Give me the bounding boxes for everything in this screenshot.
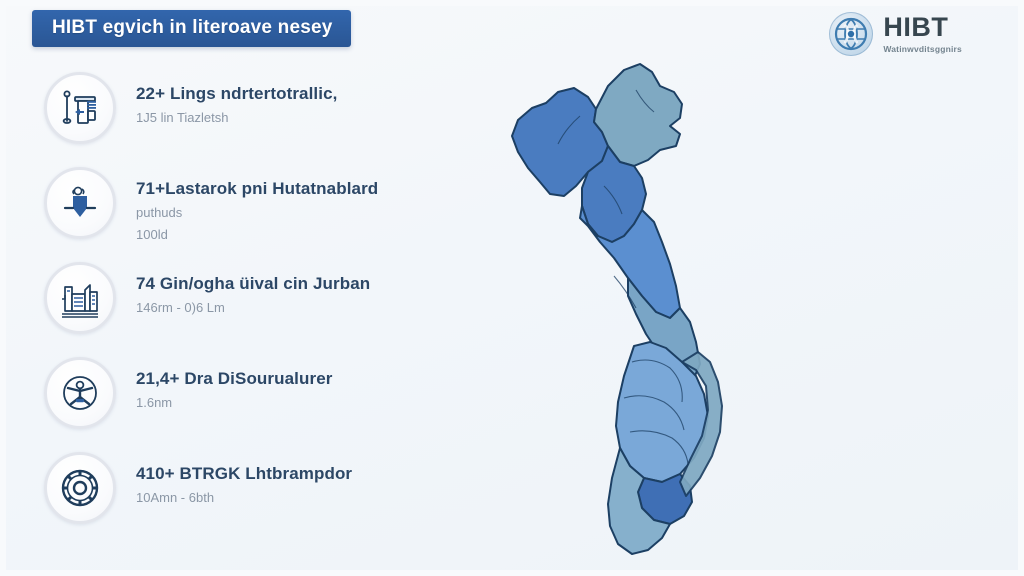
vietnam-regions-map <box>484 46 844 571</box>
stat-text-block: 71+Lastarok pni Hutatnablard puthuds 100… <box>136 165 378 244</box>
stat-subtext: 146rm - 0)6 Lm <box>136 299 370 317</box>
stats-list: 22+ Lings ndrtertotrallic, 1J5 lin Tiazl… <box>44 70 474 545</box>
gear-wheel-icon <box>44 452 116 524</box>
stat-headline: 410+ BTRGK Lhtbrampdor <box>136 464 352 484</box>
stat-text-block: 21,4+ Dra DiSourualurer 1.6nm <box>136 355 332 411</box>
stat-text-block: 410+ BTRGK Lhtbrampdor 10Amn - 6bth <box>136 450 352 506</box>
stat-text-block: 74 Gin/ogha üival cin Jurban 146rm - 0)6… <box>136 260 370 316</box>
stat-row: 22+ Lings ndrtertotrallic, 1J5 lin Tiazl… <box>44 70 474 165</box>
stat-subtext-secondary: 100ld <box>136 226 378 244</box>
page-title: HIBT egvich in literoave nesey <box>52 17 333 39</box>
stat-headline: 74 Gin/ogha üival cin Jurban <box>136 274 370 294</box>
industrial-equipment-icon <box>44 72 116 144</box>
title-banner: HIBT egvich in literoave nesey <box>32 10 351 47</box>
stat-subtext: 1J5 lin Tiazletsh <box>136 109 337 127</box>
stat-row: 71+Lastarok pni Hutatnablard puthuds 100… <box>44 165 474 260</box>
logo-text-block: HIBT Watinwvditsggnirs <box>883 14 962 54</box>
logo-subtitle: Watinwvditsggnirs <box>883 45 962 54</box>
shield-download-icon <box>44 167 116 239</box>
stat-subtext: 10Amn - 6bth <box>136 489 352 507</box>
infographic-slide: HIBT egvich in literoave nesey HIBT Wati… <box>0 0 1024 576</box>
factory-skyline-icon <box>44 262 116 334</box>
stat-row: 74 Gin/ogha üival cin Jurban 146rm - 0)6… <box>44 260 474 355</box>
stat-subtext: puthuds <box>136 204 378 222</box>
person-network-icon <box>44 357 116 429</box>
brand-logo: HIBT Watinwvditsggnirs <box>829 12 962 56</box>
stat-headline: 22+ Lings ndrtertotrallic, <box>136 84 337 104</box>
stat-text-block: 22+ Lings ndrtertotrallic, 1J5 lin Tiazl… <box>136 70 337 126</box>
stat-headline: 21,4+ Dra DiSourualurer <box>136 369 332 389</box>
stat-row: 410+ BTRGK Lhtbrampdor 10Amn - 6bth <box>44 450 474 545</box>
logo-title: HIBT <box>883 14 962 41</box>
stat-headline: 71+Lastarok pni Hutatnablard <box>136 179 378 199</box>
stat-row: 21,4+ Dra DiSourualurer 1.6nm <box>44 355 474 450</box>
stat-subtext: 1.6nm <box>136 394 332 412</box>
